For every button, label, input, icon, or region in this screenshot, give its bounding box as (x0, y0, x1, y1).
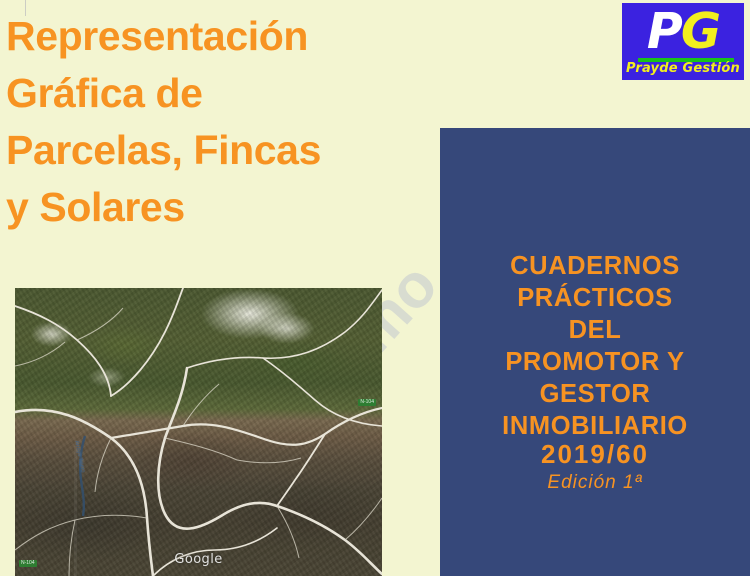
series-heading: CUADERNOS PRÁCTICOS DEL PROMOTOR Y GESTO… (450, 250, 740, 442)
title-line-4: y Solares (6, 179, 436, 236)
google-watermark: Google (15, 552, 382, 567)
series-heading-line-2: PRÁCTICOS (450, 282, 740, 314)
edition-block: 2019/60 Edición 1ª (450, 438, 740, 496)
series-heading-line-5: GESTOR (450, 378, 740, 410)
road-label-n104-east: N-104 (358, 399, 376, 406)
logo-letter-g: G (681, 3, 719, 60)
logo-subtitle: Prayde Gestión (622, 61, 744, 76)
series-panel: CUADERNOS PRÁCTICOS DEL PROMOTOR Y GESTO… (440, 128, 750, 576)
series-heading-line-4: PROMOTOR Y (450, 346, 740, 378)
satellite-map-image: N-104 N-104 Arroyo Tejero Google (15, 288, 382, 576)
title-line-3: Parcelas, Fincas (6, 122, 436, 179)
issue-number: 2019/60 (450, 438, 740, 470)
series-heading-line-3: DEL (450, 314, 740, 346)
title-line-2: Gráfica de (6, 65, 436, 122)
cover-page: Representación Gráfica de Parcelas, Finc… (0, 0, 750, 576)
map-roads-layer (15, 288, 382, 576)
logo-monogram: PG (622, 6, 744, 58)
prayde-gestion-logo: PG Prayde Gestión (622, 3, 744, 80)
logo-letter-p: P (647, 3, 681, 60)
edition-label: Edición 1ª (450, 470, 740, 496)
series-heading-line-1: CUADERNOS (450, 250, 740, 282)
page-title: Representación Gráfica de Parcelas, Finc… (6, 8, 436, 236)
title-line-1: Representación (6, 8, 436, 65)
